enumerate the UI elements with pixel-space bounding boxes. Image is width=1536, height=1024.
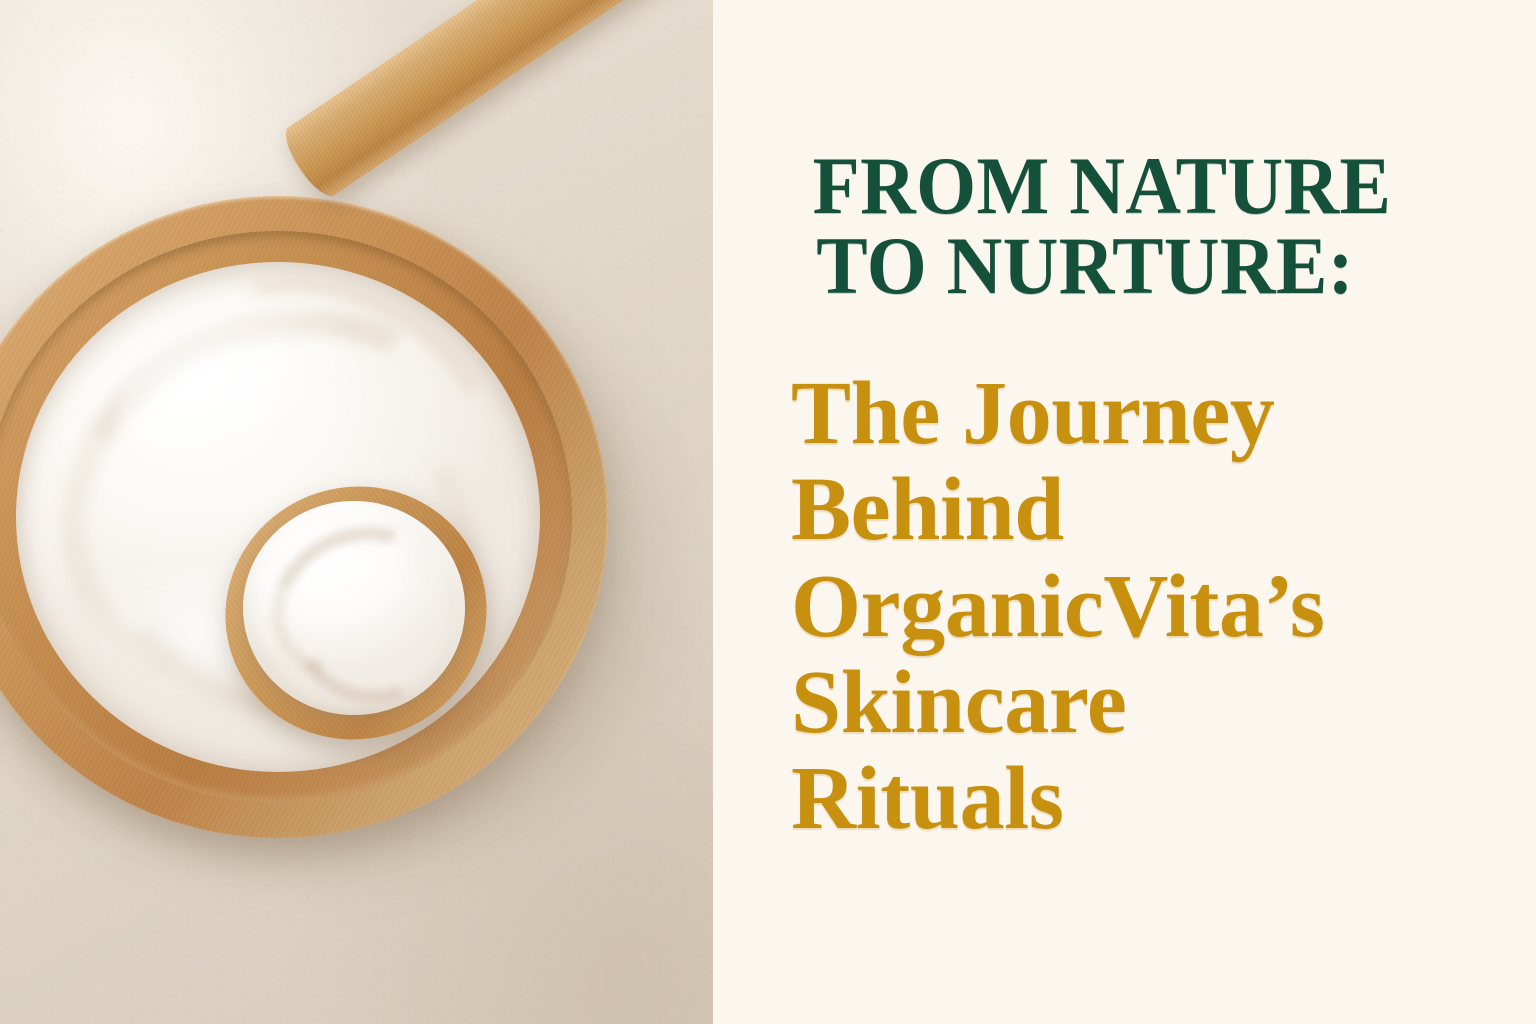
headline-line-5: Rituals (791, 751, 1491, 847)
spoon-handle-wood-grain (277, 0, 713, 203)
promo-banner: FROM NATURE TO NURTURE: The Journey Behi… (0, 0, 1536, 1024)
headline-line-3: OrganicVita’s (791, 559, 1491, 655)
headline-line-1: The Journey (791, 366, 1491, 462)
cream-highlight-1 (97, 277, 376, 485)
eyebrow-heading: FROM NATURE TO NURTURE: (773, 146, 1431, 307)
headline-line-4: Skincare (791, 655, 1491, 751)
wooden-spoon-handle (277, 0, 713, 203)
cream-on-spoon (243, 501, 465, 715)
text-panel: FROM NATURE TO NURTURE: The Journey Behi… (713, 0, 1536, 1024)
headline-line-2: Behind (791, 462, 1491, 558)
spoon-cream-swirl-1 (246, 501, 465, 709)
eyebrow-line-2: TO NURTURE: (773, 226, 1431, 306)
product-image-panel (0, 0, 713, 1024)
eyebrow-line-1: FROM NATURE (773, 146, 1431, 226)
headline: The Journey Behind OrganicVita’s Skincar… (791, 366, 1491, 847)
